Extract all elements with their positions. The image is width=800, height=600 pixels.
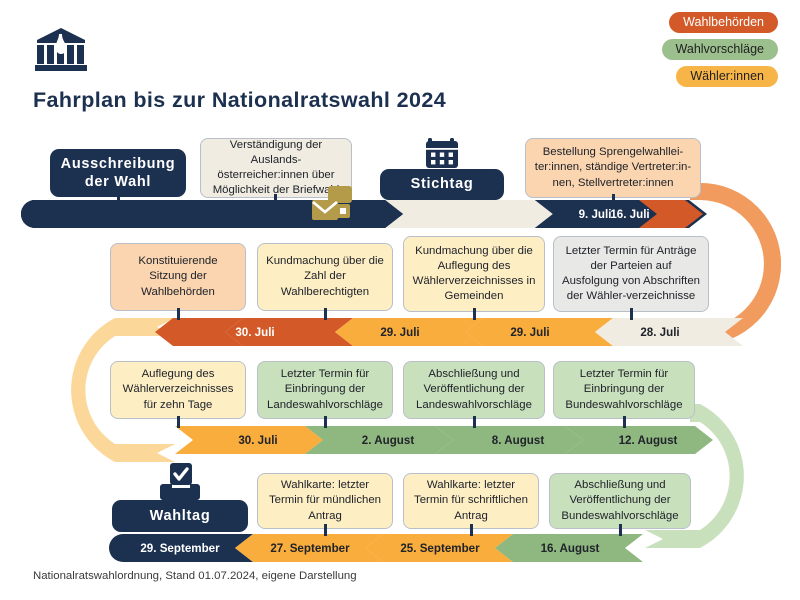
row-3-card-landeswahlvorschlaege-einbringung: Letzter Termin für Einbringung der Lande… [257, 361, 393, 419]
row-3-stem-1 [324, 416, 327, 428]
legend: Wahlbehörden Wahlvorschläge Wähler:innen [662, 12, 778, 87]
row-3-stem-2 [473, 416, 476, 428]
row-1-label-stichtag: Stichtag [380, 169, 504, 200]
row-4-date-3: 16. August [505, 534, 635, 562]
row-1-date-bestellung: 16. Juli [560, 200, 700, 228]
row-4-stem-2 [470, 524, 473, 536]
row-3-card-landeswahlvorschlaege-abschluss: Abschließung und Veröffentlichung der La… [403, 361, 545, 419]
legend-item-wahlvorschlaege: Wahlvorschläge [662, 39, 778, 60]
mail-briefwahl-icon [310, 184, 356, 229]
row-1-stem-1 [117, 193, 120, 203]
row-4-card-wahlkarte-schriftlich: Wahlkarte: letzter Termin für schriftlic… [403, 473, 539, 529]
legend-item-waehlerinnen: Wähler:innen [676, 66, 778, 87]
legend-item-wahlbehoerden: Wahlbehörden [669, 12, 778, 33]
row-3-card-bundeswahlvorschlaege-einbringung: Letzter Termin für Einbringung der Bunde… [553, 361, 695, 419]
row-3-date-2: 8. August [453, 426, 583, 454]
page-title: Fahrplan bis zur Nationalratswahl 2024 [33, 88, 446, 113]
row-2-card-kundmachung-zahl: Kundmachung über die Zahl der Wahlberech… [257, 243, 393, 311]
row-4-stem-1 [324, 524, 327, 536]
row-2-card-letzter-termin-antraege: Letzter Termin für Anträge der Parteien … [553, 236, 709, 312]
row-3-date-1: 2. August [323, 426, 453, 454]
row-4-date-2: 25. September [375, 534, 505, 562]
row-2-stem-1 [324, 308, 327, 320]
legend-label: Wahlvorschläge [676, 42, 764, 56]
row-3-card-auflegung: Auflegung des Wählerverzeichnisses für z… [110, 361, 246, 419]
row-3-stem-0 [177, 416, 180, 428]
row-4-date-1: 27. September [245, 534, 375, 562]
row-2-date-3: 28. Juli [595, 318, 725, 346]
row-1-card-bestellung: Bestellung Sprengelwahllei-ter:innen, st… [525, 138, 701, 198]
row-2-date-1: 29. Juli [335, 318, 465, 346]
row-4-card-bundeswahlvorschlaege-abschluss: Abschließung und Veröffentlichung der Bu… [549, 473, 691, 529]
row-2-stem-2 [473, 308, 476, 320]
row-1-stem-2 [274, 194, 277, 206]
row-4-label-wahltag: Wahltag [112, 500, 248, 532]
row-2-date-2: 29. Juli [465, 318, 595, 346]
row-3-stem-3 [623, 416, 626, 428]
row-4-date-0: 29. September [115, 534, 245, 562]
row-2-card-kundmachung-auflegung: Kundmachung über die Auflegung des Wähle… [403, 236, 545, 312]
row-2-date-0: 30. Juli [175, 318, 335, 346]
row-2-card-konstituierende: Konstituierende Sitzung der Wahlbehörden [110, 243, 246, 311]
infographic-canvas: Fahrplan bis zur Nationalratswahl 2024 W… [0, 0, 800, 600]
parliament-building-icon [33, 28, 89, 72]
row-3-date-0: 30. Juli [193, 426, 323, 454]
legend-label: Wähler:innen [690, 69, 764, 83]
row-1-stem-4 [612, 194, 615, 206]
row-1-label-ausschreibung: Ausschreibung der Wahl [50, 149, 186, 197]
source-note: Nationalratswahlordnung, Stand 01.07.202… [33, 570, 357, 582]
row-4-card-wahlkarte-muendlich: Wahlkarte: letzter Termin für mündlichen… [257, 473, 393, 529]
row-2-stem-0 [177, 308, 180, 320]
row-3-date-3: 12. August [583, 426, 713, 454]
row-4-stem-3 [619, 524, 622, 536]
legend-label: Wahlbehörden [683, 15, 764, 29]
row-2-stem-3 [630, 308, 633, 320]
